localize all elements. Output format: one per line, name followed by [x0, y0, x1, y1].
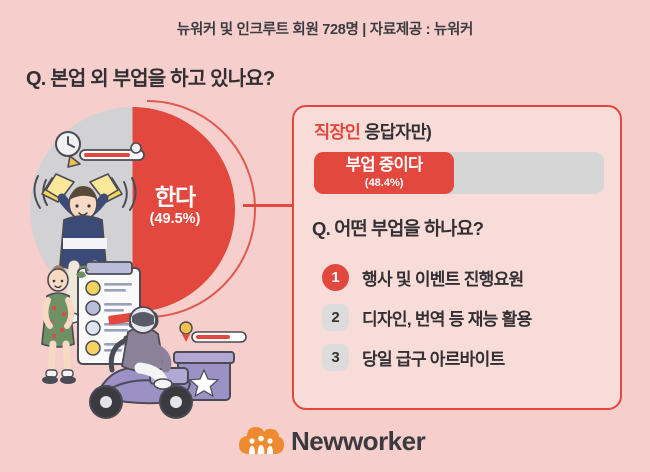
panel-subtitle: 직장인 응답자만) [314, 119, 431, 144]
detail-panel: 직장인 응답자만) 부업 중이다 (48.4%) Q. 어떤 부업을 하나요? … [292, 105, 622, 410]
sub-question: Q. 어떤 부업을 하나요? [312, 215, 483, 241]
rank-badge: 3 [322, 344, 349, 371]
rank-list: 1행사 및 이벤트 진행요원2디자인, 번역 등 재능 활용3당일 급구 아르바… [322, 257, 612, 377]
cloud-icon [238, 424, 284, 458]
infographic-root: 뉴워커 및 인크루트 회원 728명 | 자료제공 : 뉴워커 Q. 본업 외 … [0, 0, 650, 472]
brand-logo: Newworker [238, 424, 425, 458]
list-item: 1행사 및 이벤트 진행요원 [322, 257, 612, 297]
rank-badge: 2 [322, 304, 349, 331]
rank-label: 디자인, 번역 등 재능 활용 [362, 305, 532, 330]
rank-label: 행사 및 이벤트 진행요원 [362, 265, 523, 290]
list-item: 2디자인, 번역 등 재능 활용 [322, 297, 612, 337]
panel-subtitle-rest: 응답자만) [360, 122, 431, 142]
rank-label: 당일 급구 아르바이트 [362, 345, 505, 370]
workers-illustration [0, 120, 250, 420]
pie-to-panel-connector [243, 204, 299, 207]
progress-bar-value: (48.4%) [365, 177, 404, 189]
list-item: 3당일 급구 아르바이트 [322, 337, 612, 377]
page-title: Q. 본업 외 부업을 하고 있나요? [26, 62, 274, 91]
rank-badge: 1 [322, 264, 349, 291]
brand-name: Newworker [291, 426, 425, 457]
progress-bar-track: 부업 중이다 (48.4%) [314, 152, 604, 194]
panel-subtitle-highlight: 직장인 [314, 122, 360, 142]
progress-bar-fill: 부업 중이다 (48.4%) [314, 152, 454, 194]
source-note: 뉴워커 및 인크루트 회원 728명 | 자료제공 : 뉴워커 [0, 18, 650, 39]
progress-bar-label: 부업 중이다 [346, 157, 423, 174]
